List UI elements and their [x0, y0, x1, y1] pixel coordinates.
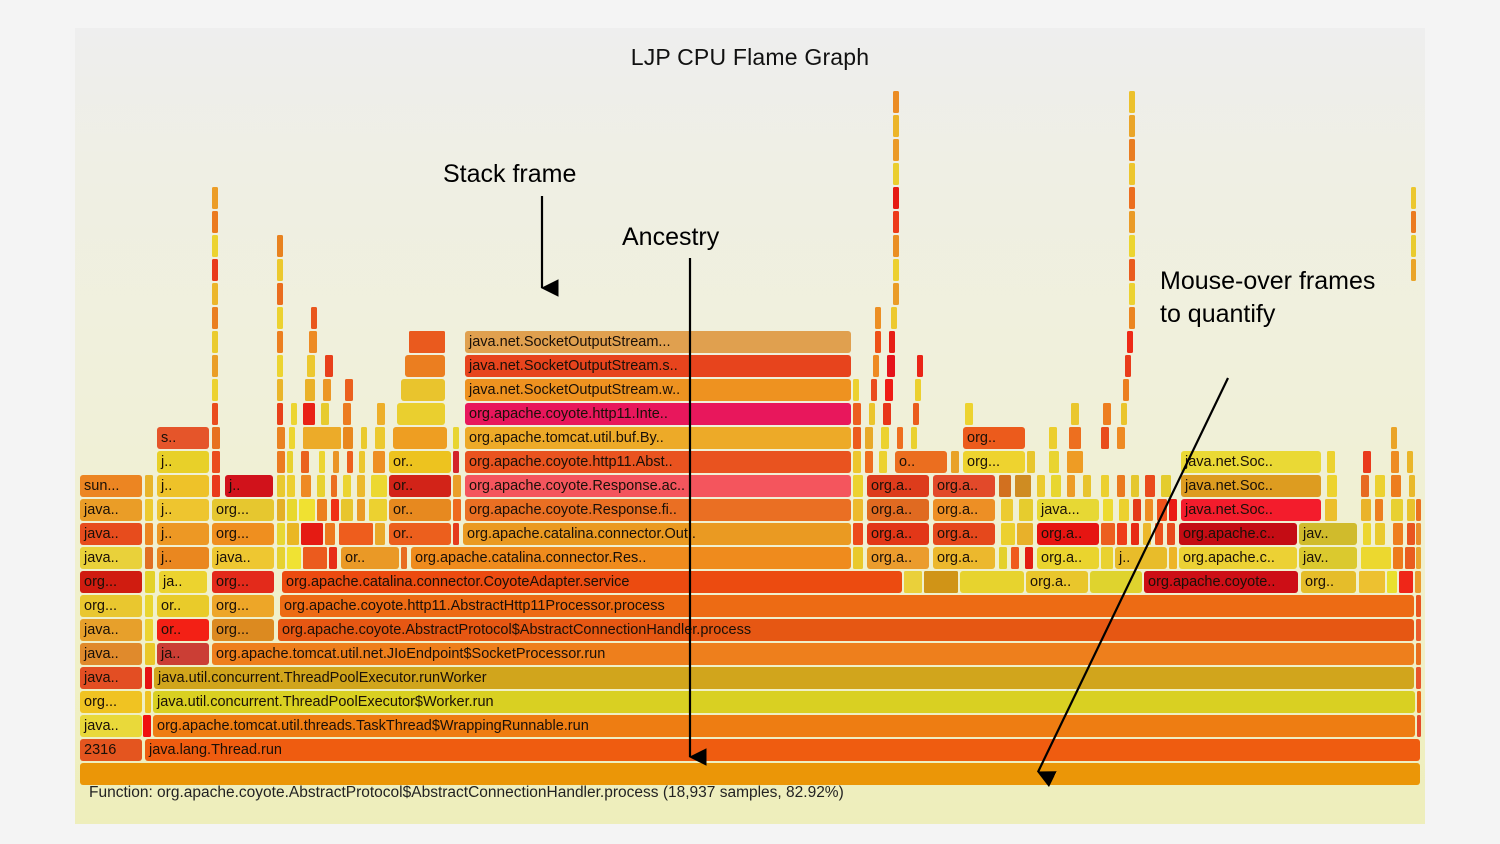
- flame-frame[interactable]: [1001, 499, 1013, 521]
- flame-frame[interactable]: [1167, 523, 1175, 545]
- flame-frame[interactable]: [1001, 523, 1015, 545]
- flame-frame-labeled[interactable]: java.net.Soc..: [1181, 475, 1321, 497]
- flame-frame-labeled[interactable]: or..: [341, 547, 399, 569]
- flame-frame[interactable]: [1131, 523, 1139, 545]
- flame-frame[interactable]: [1121, 403, 1127, 425]
- flame-frame-labeled[interactable]: java.net.Soc..: [1181, 451, 1321, 473]
- flame-frame[interactable]: [960, 571, 1024, 593]
- flame-frame[interactable]: [303, 403, 315, 425]
- flame-frame[interactable]: [317, 499, 327, 521]
- flame-frame-labeled[interactable]: org.a..: [867, 523, 929, 545]
- flame-frame-labeled[interactable]: org.a..: [933, 523, 995, 545]
- flame-frame[interactable]: [325, 523, 335, 545]
- flame-frame[interactable]: [1325, 499, 1337, 521]
- flame-frame[interactable]: [1027, 451, 1035, 473]
- flame-frame[interactable]: [1090, 571, 1142, 593]
- flame-frame-labeled[interactable]: org.apache.tomcat.util.threads.TaskThrea…: [153, 715, 1415, 737]
- flame-frame[interactable]: [212, 331, 218, 353]
- flame-frame[interactable]: [1416, 595, 1421, 617]
- flame-frame[interactable]: [287, 475, 295, 497]
- flame-frame[interactable]: [1169, 499, 1177, 521]
- flame-frame[interactable]: [853, 523, 863, 545]
- flame-frame[interactable]: [1133, 499, 1141, 521]
- flame-frame[interactable]: [212, 307, 218, 329]
- flame-frame-labeled[interactable]: org.a..: [1037, 523, 1099, 545]
- flame-frame-labeled[interactable]: org.apache.c..: [1179, 523, 1297, 545]
- flame-frame[interactable]: [999, 547, 1007, 569]
- flame-frame[interactable]: [1017, 523, 1033, 545]
- flame-frame[interactable]: [309, 331, 317, 353]
- flame-frame[interactable]: [1103, 499, 1113, 521]
- flame-frame[interactable]: [1391, 427, 1397, 449]
- flame-frame[interactable]: [893, 235, 899, 257]
- flame-frame[interactable]: [307, 355, 315, 377]
- flame-frame[interactable]: [1129, 115, 1135, 137]
- flame-frame[interactable]: [893, 139, 899, 161]
- flame-frame[interactable]: [893, 283, 899, 305]
- flame-frame[interactable]: [1417, 691, 1421, 713]
- flame-frame[interactable]: [212, 451, 220, 473]
- flame-frame[interactable]: [871, 379, 877, 401]
- flame-frame[interactable]: [1393, 547, 1403, 569]
- flame-frame[interactable]: [1169, 547, 1177, 569]
- flame-frame[interactable]: [453, 427, 459, 449]
- flame-frame-labeled[interactable]: org.apache.catalina.connector.Res..: [411, 547, 851, 569]
- flame-frame[interactable]: [277, 427, 285, 449]
- flame-frame[interactable]: [277, 475, 285, 497]
- flame-frame[interactable]: [343, 427, 353, 449]
- flame-frame[interactable]: [1416, 523, 1421, 545]
- flame-frame[interactable]: [853, 403, 861, 425]
- flame-frame-labeled[interactable]: j..: [157, 523, 209, 545]
- flame-frame[interactable]: [212, 427, 220, 449]
- flame-frame-labeled[interactable]: org.a..: [933, 499, 995, 521]
- flame-frame[interactable]: [1101, 547, 1113, 569]
- flame-frame[interactable]: [1161, 475, 1171, 497]
- flame-frame[interactable]: [1416, 643, 1421, 665]
- flame-frame-labeled[interactable]: org.a..: [1037, 547, 1099, 569]
- flame-frame-labeled[interactable]: j..: [157, 475, 209, 497]
- flame-frame[interactable]: [1375, 475, 1385, 497]
- flame-frame[interactable]: [853, 427, 861, 449]
- flame-frame[interactable]: [287, 451, 293, 473]
- flame-frame-labeled[interactable]: or..: [157, 619, 209, 641]
- flame-frame[interactable]: [853, 379, 859, 401]
- flame-frame[interactable]: [853, 547, 863, 569]
- flame-frame[interactable]: [212, 355, 218, 377]
- flame-frame[interactable]: [277, 283, 283, 305]
- flame-frame[interactable]: [1019, 499, 1033, 521]
- flame-frame-labeled[interactable]: java...: [1037, 499, 1099, 521]
- flame-frame[interactable]: [1399, 571, 1413, 593]
- flame-frame[interactable]: [287, 499, 297, 521]
- flame-frame[interactable]: [1123, 379, 1129, 401]
- flame-frame-labeled[interactable]: j..: [225, 475, 273, 497]
- flame-frame-labeled[interactable]: java..: [80, 667, 142, 689]
- flame-frame-labeled[interactable]: j..: [157, 547, 209, 569]
- flame-frame[interactable]: [145, 499, 153, 521]
- flame-frame-labeled[interactable]: org.a..: [1026, 571, 1088, 593]
- flame-frame[interactable]: [904, 571, 922, 593]
- flame-frame-labeled[interactable]: org...: [80, 691, 142, 713]
- flame-frame[interactable]: [1391, 499, 1403, 521]
- flame-frame[interactable]: [145, 667, 152, 689]
- flame-frame[interactable]: [145, 475, 153, 497]
- flame-frame-labeled[interactable]: j..: [157, 451, 209, 473]
- flame-frame[interactable]: [453, 523, 459, 545]
- flame-frame-labeled[interactable]: org...: [212, 619, 274, 641]
- flame-frame[interactable]: [1145, 499, 1153, 521]
- flame-frame[interactable]: [1361, 547, 1391, 569]
- flame-frame[interactable]: [1411, 259, 1416, 281]
- flame-frame[interactable]: [212, 403, 218, 425]
- flame-frame-labeled[interactable]: or..: [389, 475, 451, 497]
- flame-frame-labeled[interactable]: java..: [80, 523, 142, 545]
- flame-frame-labeled[interactable]: or..: [157, 595, 209, 617]
- flame-frame[interactable]: [145, 619, 153, 641]
- flame-frame[interactable]: [1119, 499, 1129, 521]
- flame-frame[interactable]: [875, 307, 881, 329]
- flame-frame-labeled[interactable]: java..: [80, 547, 142, 569]
- flame-frame[interactable]: [1327, 475, 1337, 497]
- flame-frame-labeled[interactable]: org...: [963, 451, 1025, 473]
- flame-frame[interactable]: [1411, 187, 1416, 209]
- flame-frame-labeled[interactable]: or..: [389, 451, 451, 473]
- flame-frame-labeled[interactable]: j..: [1115, 547, 1167, 569]
- flame-frame[interactable]: [453, 451, 459, 473]
- flame-frame[interactable]: [1117, 523, 1127, 545]
- flame-frame-labeled[interactable]: org.a..: [867, 475, 929, 497]
- flame-frame[interactable]: [277, 499, 285, 521]
- flame-frame-labeled[interactable]: o..: [895, 451, 947, 473]
- flame-frame[interactable]: [865, 451, 873, 473]
- flame-frame[interactable]: [1117, 427, 1125, 449]
- flame-frame-labeled[interactable]: s..: [157, 427, 209, 449]
- flame-frame[interactable]: [1157, 499, 1167, 521]
- flame-frame[interactable]: [323, 379, 331, 401]
- flame-frame[interactable]: [301, 451, 309, 473]
- flame-frame[interactable]: [1101, 427, 1109, 449]
- flame-frame[interactable]: [853, 475, 863, 497]
- flame-frame[interactable]: [1071, 403, 1079, 425]
- flame-frame[interactable]: [883, 403, 891, 425]
- flame-frame[interactable]: [893, 163, 899, 185]
- flame-frame[interactable]: [891, 307, 897, 329]
- flame-frame[interactable]: [347, 451, 353, 473]
- flame-frame[interactable]: [917, 355, 923, 377]
- flame-frame[interactable]: [1049, 427, 1057, 449]
- flame-frame[interactable]: [1415, 571, 1421, 593]
- flame-frame[interactable]: [331, 499, 339, 521]
- flame-frame[interactable]: [1407, 499, 1415, 521]
- flame-frame[interactable]: [409, 331, 445, 353]
- flame-frame[interactable]: [1363, 523, 1371, 545]
- flame-frame[interactable]: [212, 235, 218, 257]
- flame-frame[interactable]: [299, 499, 315, 521]
- flame-frame-labeled[interactable]: org.apache.coyote..: [1144, 571, 1298, 593]
- flame-frame-labeled[interactable]: org.apache.tomcat.util.buf.By..: [465, 427, 851, 449]
- flame-frame-labeled[interactable]: java..: [80, 619, 142, 641]
- flame-frame-labeled[interactable]: jav..: [1299, 547, 1357, 569]
- flame-frame[interactable]: [80, 763, 1420, 785]
- flame-frame[interactable]: [1049, 451, 1059, 473]
- flame-frame[interactable]: [1145, 475, 1155, 497]
- flame-frame[interactable]: [343, 403, 351, 425]
- flame-frame-labeled[interactable]: org.apache.coyote.AbstractProtocol$Abstr…: [278, 619, 1414, 641]
- flame-frame[interactable]: [1411, 211, 1416, 233]
- flame-frame[interactable]: [145, 547, 153, 569]
- flame-frame[interactable]: [1129, 211, 1135, 233]
- flame-frame[interactable]: [393, 427, 447, 449]
- flame-frame[interactable]: [212, 187, 218, 209]
- flame-frame-labeled[interactable]: org...: [80, 595, 142, 617]
- flame-frame[interactable]: [1051, 475, 1061, 497]
- flame-frame[interactable]: [965, 403, 973, 425]
- flame-frame[interactable]: [853, 451, 861, 473]
- flame-frame[interactable]: [1363, 451, 1371, 473]
- flame-frame[interactable]: [371, 475, 387, 497]
- flame-frame[interactable]: [277, 403, 283, 425]
- flame-frame-labeled[interactable]: java..: [80, 499, 142, 521]
- flame-frame-labeled[interactable]: java.lang.Thread.run: [145, 739, 1420, 761]
- flame-frame[interactable]: [1416, 667, 1421, 689]
- flame-frame-labeled[interactable]: java.net.Soc..: [1181, 499, 1321, 521]
- flame-frame[interactable]: [1101, 523, 1115, 545]
- flame-frame[interactable]: [145, 571, 155, 593]
- flame-frame[interactable]: [377, 403, 385, 425]
- flame-frame[interactable]: [357, 475, 365, 497]
- flame-frame[interactable]: [999, 475, 1011, 497]
- flame-frame[interactable]: [1417, 715, 1421, 737]
- flame-frame[interactable]: [889, 331, 895, 353]
- flame-frame[interactable]: [311, 307, 317, 329]
- flame-frame-labeled[interactable]: org...: [80, 571, 142, 593]
- flame-frame[interactable]: [277, 307, 283, 329]
- flame-frame[interactable]: [1416, 619, 1421, 641]
- flame-frame[interactable]: [913, 403, 919, 425]
- flame-frame[interactable]: [893, 187, 899, 209]
- flame-frame[interactable]: [869, 403, 875, 425]
- flame-frame-labeled[interactable]: org.apache.coyote.http11.AbstractHttp11P…: [280, 595, 1414, 617]
- flame-frame[interactable]: [212, 283, 218, 305]
- flame-frame[interactable]: [369, 499, 387, 521]
- flame-frame[interactable]: [1011, 547, 1019, 569]
- flame-frame[interactable]: [951, 451, 959, 473]
- flame-frame-labeled[interactable]: org..: [1301, 571, 1356, 593]
- flame-frame[interactable]: [301, 523, 323, 545]
- flame-frame[interactable]: [1129, 139, 1135, 161]
- flame-frame[interactable]: [291, 403, 297, 425]
- flame-frame[interactable]: [879, 451, 887, 473]
- flame-frame[interactable]: [887, 355, 895, 377]
- flame-frame[interactable]: [1129, 91, 1135, 113]
- flame-frame-labeled[interactable]: org.apache.coyote.Response.ac..: [465, 475, 851, 497]
- flame-frame-labeled[interactable]: org.a..: [867, 499, 929, 521]
- flame-frame[interactable]: [1391, 451, 1399, 473]
- flame-frame[interactable]: [212, 211, 218, 233]
- flame-frame[interactable]: [865, 427, 873, 449]
- flame-frame[interactable]: [885, 379, 893, 401]
- flame-frame[interactable]: [1131, 475, 1139, 497]
- flame-frame[interactable]: [287, 523, 299, 545]
- flame-frame-labeled[interactable]: java.util.concurrent.ThreadPoolExecutor.…: [154, 667, 1414, 689]
- flame-frame-labeled[interactable]: org...: [212, 571, 274, 593]
- flame-frame[interactable]: [1155, 523, 1163, 545]
- flame-frame-labeled[interactable]: j..: [157, 499, 209, 521]
- flame-frame[interactable]: [1411, 235, 1416, 257]
- flame-graph-canvas[interactable]: 2316java.lang.Thread.runjava..org.apache…: [75, 28, 1425, 788]
- flame-frame[interactable]: [289, 427, 295, 449]
- flame-frame[interactable]: [893, 211, 899, 233]
- flame-frame[interactable]: [875, 331, 881, 353]
- flame-frame[interactable]: [1391, 475, 1401, 497]
- flame-frame[interactable]: [1129, 307, 1135, 329]
- flame-frame[interactable]: [375, 427, 385, 449]
- flame-frame[interactable]: [915, 379, 921, 401]
- flame-frame[interactable]: [1127, 331, 1133, 353]
- flame-frame[interactable]: [1407, 523, 1415, 545]
- flame-frame[interactable]: [1143, 523, 1151, 545]
- flame-frame-labeled[interactable]: org.apache.catalina.connector.Out..: [463, 523, 851, 545]
- flame-frame[interactable]: [143, 715, 151, 737]
- flame-frame[interactable]: [1117, 475, 1125, 497]
- flame-frame[interactable]: [277, 523, 285, 545]
- flame-frame[interactable]: [212, 379, 218, 401]
- flame-frame-labeled[interactable]: org.apache.coyote.http11.Abst..: [465, 451, 851, 473]
- flame-frame-labeled[interactable]: ja..: [157, 643, 209, 665]
- flame-frame[interactable]: [1327, 451, 1335, 473]
- flame-frame-labeled[interactable]: org.apache.coyote.http11.Inte..: [465, 403, 851, 425]
- flame-frame[interactable]: [277, 355, 283, 377]
- flame-frame[interactable]: [1037, 475, 1045, 497]
- flame-frame[interactable]: [924, 571, 958, 593]
- flame-frame[interactable]: [277, 235, 283, 257]
- flame-frame[interactable]: [212, 475, 220, 497]
- flame-frame-labeled[interactable]: java.net.SocketOutputStream.s..: [465, 355, 851, 377]
- flame-frame-labeled[interactable]: java.util.concurrent.ThreadPoolExecutor$…: [153, 691, 1415, 713]
- flame-frame[interactable]: [1416, 547, 1421, 569]
- flame-frame[interactable]: [277, 547, 285, 569]
- flame-frame[interactable]: [319, 451, 325, 473]
- flame-frame-labeled[interactable]: ja..: [159, 571, 207, 593]
- flame-frame[interactable]: [303, 547, 327, 569]
- flame-frame[interactable]: [1375, 499, 1383, 521]
- flame-frame[interactable]: [1129, 235, 1135, 257]
- flame-frame[interactable]: [893, 91, 899, 113]
- flame-frame-labeled[interactable]: org.apache.coyote.Response.fi..: [465, 499, 851, 521]
- flame-frame[interactable]: [375, 523, 385, 545]
- flame-frame[interactable]: [212, 259, 218, 281]
- flame-frame[interactable]: [853, 499, 863, 521]
- flame-frame[interactable]: [145, 643, 155, 665]
- flame-frame[interactable]: [333, 451, 339, 473]
- flame-frame[interactable]: [1129, 259, 1135, 281]
- flame-frame-labeled[interactable]: java..: [80, 715, 142, 737]
- flame-frame[interactable]: [321, 403, 329, 425]
- flame-frame[interactable]: [1125, 355, 1131, 377]
- flame-frame[interactable]: [1387, 571, 1397, 593]
- flame-frame[interactable]: [303, 427, 341, 449]
- flame-frame[interactable]: [145, 595, 153, 617]
- flame-frame[interactable]: [1129, 163, 1135, 185]
- flame-frame[interactable]: [1025, 547, 1033, 569]
- flame-frame-labeled[interactable]: org.apache.catalina.connector.CoyoteAdap…: [282, 571, 902, 593]
- flame-frame[interactable]: [881, 427, 889, 449]
- flame-frame[interactable]: [1067, 451, 1083, 473]
- flame-frame[interactable]: [1015, 475, 1031, 497]
- flame-frame[interactable]: [317, 475, 325, 497]
- flame-frame-labeled[interactable]: 2316: [80, 739, 142, 761]
- flame-frame[interactable]: [287, 547, 301, 569]
- flame-frame[interactable]: [893, 115, 899, 137]
- flame-frame[interactable]: [1405, 547, 1415, 569]
- flame-graph-panel[interactable]: LJP CPU Flame Graph 2316java.lang.Thread…: [75, 28, 1425, 824]
- flame-frame[interactable]: [1407, 451, 1413, 473]
- flame-frame-labeled[interactable]: java.net.SocketOutputStream.w..: [465, 379, 851, 401]
- flame-frame[interactable]: [359, 451, 365, 473]
- flame-frame-labeled[interactable]: jav..: [1299, 523, 1357, 545]
- flame-frame-labeled[interactable]: org.apache.c..: [1179, 547, 1297, 569]
- flame-frame-labeled[interactable]: or..: [389, 523, 451, 545]
- flame-frame-labeled[interactable]: org...: [212, 595, 274, 617]
- flame-frame[interactable]: [1069, 427, 1081, 449]
- flame-frame[interactable]: [401, 379, 445, 401]
- flame-frame[interactable]: [373, 451, 385, 473]
- flame-frame[interactable]: [453, 499, 461, 521]
- flame-frame-labeled[interactable]: sun...: [80, 475, 142, 497]
- flame-frame[interactable]: [305, 379, 315, 401]
- flame-frame[interactable]: [397, 403, 445, 425]
- flame-frame[interactable]: [325, 355, 333, 377]
- flame-frame-labeled[interactable]: org..: [963, 427, 1025, 449]
- flame-frame[interactable]: [1359, 571, 1385, 593]
- flame-frame[interactable]: [1129, 187, 1135, 209]
- flame-frame-labeled[interactable]: java..: [80, 643, 142, 665]
- flame-frame[interactable]: [1361, 499, 1371, 521]
- flame-frame[interactable]: [1103, 403, 1111, 425]
- flame-frame[interactable]: [145, 691, 151, 713]
- flame-frame[interactable]: [873, 355, 879, 377]
- flame-frame[interactable]: [401, 547, 407, 569]
- flame-frame-labeled[interactable]: org.a..: [933, 475, 995, 497]
- flame-frame[interactable]: [361, 427, 367, 449]
- flame-frame[interactable]: [301, 475, 311, 497]
- flame-frame[interactable]: [357, 499, 365, 521]
- flame-frame[interactable]: [1409, 475, 1415, 497]
- flame-frame[interactable]: [341, 499, 353, 521]
- flame-frame-labeled[interactable]: org.apache.tomcat.util.net.JIoEndpoint$S…: [212, 643, 1414, 665]
- flame-frame[interactable]: [1067, 475, 1075, 497]
- flame-frame[interactable]: [145, 523, 153, 545]
- flame-frame[interactable]: [1083, 475, 1091, 497]
- flame-frame[interactable]: [1416, 499, 1421, 521]
- flame-frame-labeled[interactable]: org...: [212, 523, 274, 545]
- flame-frame[interactable]: [405, 355, 445, 377]
- flame-frame[interactable]: [277, 451, 285, 473]
- flame-frame[interactable]: [453, 475, 461, 497]
- flame-frame[interactable]: [1361, 475, 1369, 497]
- flame-frame[interactable]: [911, 427, 917, 449]
- flame-frame[interactable]: [897, 427, 903, 449]
- flame-frame-labeled[interactable]: org.a..: [933, 547, 995, 569]
- flame-frame-labeled[interactable]: or..: [389, 499, 451, 521]
- flame-frame[interactable]: [339, 523, 373, 545]
- flame-frame[interactable]: [345, 379, 353, 401]
- flame-frame[interactable]: [329, 547, 337, 569]
- flame-frame[interactable]: [1101, 475, 1109, 497]
- flame-frame-labeled[interactable]: java.net.SocketOutputStream...: [465, 331, 851, 353]
- flame-frame[interactable]: [1375, 523, 1385, 545]
